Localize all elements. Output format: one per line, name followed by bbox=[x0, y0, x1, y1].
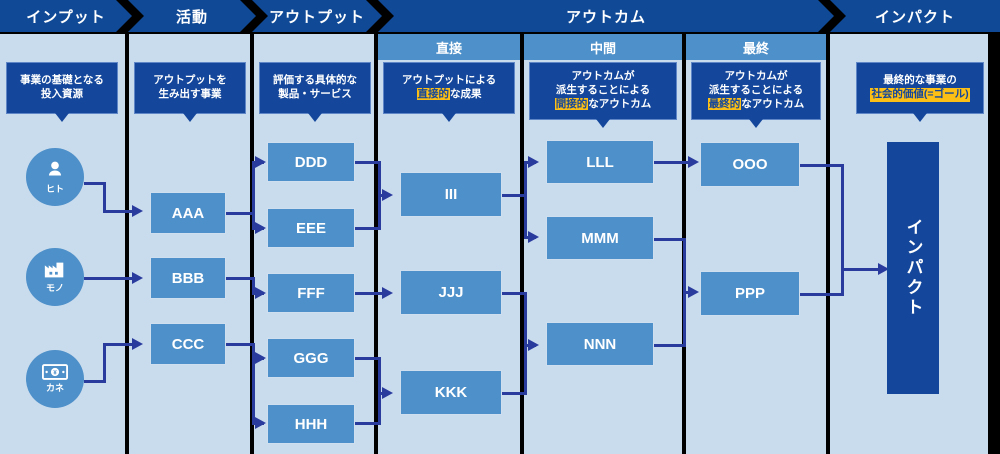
header-output-label: アウトプット bbox=[269, 6, 365, 27]
callout-tail-icon bbox=[442, 113, 456, 122]
callout-tail-icon bbox=[308, 113, 322, 122]
description-activity-line1: アウトプットを bbox=[153, 74, 227, 88]
connector-ggg-out bbox=[353, 357, 381, 360]
outcome-middle-node-mmm[interactable]: MMM bbox=[546, 216, 654, 260]
connector-hito-bus bbox=[103, 182, 106, 212]
impact-node-label: インパクト bbox=[901, 218, 926, 318]
description-final-line2: 派生することによる bbox=[709, 84, 803, 98]
input-node-kane-label: カネ bbox=[46, 381, 64, 394]
column-divider bbox=[988, 32, 992, 454]
description-direct-highlight: 直接的 bbox=[417, 88, 451, 100]
outcome-middle-node-mmm-label: MMM bbox=[581, 230, 619, 247]
connector-nnn-out bbox=[653, 344, 685, 347]
arrowhead-icon bbox=[382, 387, 393, 399]
arrowhead-icon bbox=[255, 287, 266, 299]
description-input: 事業の基礎となる 投入資源 bbox=[6, 62, 118, 114]
outcome-direct-node-jjj-label: JJJ bbox=[438, 284, 463, 301]
description-impact: 最終的な事業の 社会的価値(=ゴール) bbox=[856, 62, 984, 114]
arrowhead-icon bbox=[528, 231, 539, 243]
connector-ddd-out bbox=[353, 161, 381, 164]
output-node-ggg[interactable]: GGG bbox=[267, 338, 355, 378]
description-final-line3: 最終的なアウトカム bbox=[708, 98, 805, 112]
header-impact[interactable]: インパクト bbox=[830, 0, 1000, 32]
header-output[interactable]: アウトプット bbox=[252, 0, 382, 32]
outcome-direct-node-kkk[interactable]: KKK bbox=[400, 370, 502, 415]
outcome-final-node-ppp[interactable]: PPP bbox=[700, 271, 800, 316]
input-node-mono[interactable]: モノ bbox=[26, 248, 84, 306]
description-middle-line2: 派生することによる bbox=[556, 84, 650, 98]
header-outcome-label: アウトカム bbox=[566, 6, 646, 27]
header-impact-label: インパクト bbox=[875, 6, 955, 27]
subheader-direct-label: 直接 bbox=[436, 38, 462, 57]
connector-iii-out bbox=[500, 194, 526, 197]
output-node-hhh-label: HHH bbox=[295, 416, 328, 433]
connector-jjj-out bbox=[500, 292, 526, 295]
header-activity[interactable]: 活動 bbox=[128, 0, 256, 32]
description-direct: アウトプットによる 直接的な成果 bbox=[383, 62, 515, 114]
input-node-mono-label: モノ bbox=[46, 281, 64, 294]
banknote-icon: ¥ bbox=[42, 364, 68, 380]
column-divider bbox=[826, 32, 830, 454]
description-activity: アウトプットを 生み出す事業 bbox=[134, 62, 246, 114]
description-middle: アウトカムが 派生することによる 間接的なアウトカム bbox=[529, 62, 677, 120]
arrowhead-icon bbox=[132, 205, 143, 217]
outcome-direct-node-iii-label: III bbox=[445, 186, 458, 203]
description-activity-line2: 生み出す事業 bbox=[159, 88, 222, 102]
header-input[interactable]: インプット bbox=[0, 0, 132, 32]
connector-aaa-bus bbox=[252, 162, 255, 230]
outcome-direct-node-iii[interactable]: III bbox=[400, 172, 502, 217]
callout-tail-icon bbox=[749, 119, 763, 128]
activity-node-bbb-label: BBB bbox=[172, 270, 205, 287]
callout-tail-icon bbox=[183, 113, 197, 122]
impact-node[interactable]: インパクト bbox=[887, 142, 939, 394]
outcome-final-node-ooo[interactable]: OOO bbox=[700, 142, 800, 187]
connector-iii-bus bbox=[524, 161, 527, 238]
description-middle-line3: 間接的なアウトカム bbox=[555, 98, 652, 112]
output-node-ddd[interactable]: DDD bbox=[267, 142, 355, 182]
header-outcome[interactable]: アウトカム bbox=[378, 0, 834, 32]
arrowhead-icon bbox=[132, 272, 143, 284]
header-input-label: インプット bbox=[26, 6, 106, 27]
person-icon bbox=[44, 159, 66, 181]
output-node-fff-label: FFF bbox=[297, 285, 325, 302]
factory-icon bbox=[43, 260, 67, 280]
connector-hhh-out bbox=[353, 422, 381, 425]
arrowhead-icon bbox=[688, 156, 699, 168]
connector-gh-bus bbox=[378, 357, 381, 425]
column-divider bbox=[125, 32, 129, 454]
outcome-direct-node-kkk-label: KKK bbox=[435, 384, 468, 401]
outcome-final-node-ppp-label: PPP bbox=[735, 285, 765, 302]
description-input-line2: 投入資源 bbox=[41, 88, 83, 102]
connector-kane-bus bbox=[103, 344, 106, 383]
callout-tail-icon bbox=[596, 119, 610, 128]
connector-mmm-out bbox=[653, 238, 685, 241]
description-output: 評価する具体的な 製品・サービス bbox=[259, 62, 371, 114]
output-node-fff[interactable]: FFF bbox=[267, 273, 355, 313]
input-node-kane[interactable]: ¥ カネ bbox=[26, 350, 84, 408]
subheader-final-label: 最終 bbox=[743, 38, 769, 57]
description-direct-line1: アウトプットによる bbox=[402, 74, 496, 88]
arrowhead-icon bbox=[688, 286, 699, 298]
arrowhead-icon bbox=[255, 352, 266, 364]
activity-node-ccc-label: CCC bbox=[172, 336, 205, 353]
subheader-middle[interactable]: 中間 bbox=[524, 34, 682, 60]
arrowhead-icon bbox=[528, 156, 539, 168]
description-middle-line1: アウトカムが bbox=[572, 70, 635, 84]
output-node-eee-label: EEE bbox=[296, 220, 326, 237]
description-final-highlight: 最終的 bbox=[708, 98, 742, 110]
arrowhead-icon bbox=[528, 339, 539, 351]
outcome-middle-node-lll[interactable]: LLL bbox=[546, 140, 654, 184]
connector-op-bus bbox=[841, 164, 844, 296]
description-output-line1: 評価する具体的な bbox=[273, 74, 357, 88]
connector-mono-to-bbb bbox=[84, 277, 133, 280]
activity-node-ccc[interactable]: CCC bbox=[150, 323, 226, 365]
description-impact-line1: 最終的な事業の bbox=[883, 74, 957, 88]
activity-node-aaa[interactable]: AAA bbox=[150, 192, 226, 234]
outcome-middle-node-nnn-label: NNN bbox=[584, 336, 617, 353]
input-node-hito[interactable]: ヒト bbox=[26, 148, 84, 206]
output-node-eee[interactable]: EEE bbox=[267, 208, 355, 248]
output-node-hhh[interactable]: HHH bbox=[267, 404, 355, 444]
activity-node-bbb[interactable]: BBB bbox=[150, 257, 226, 299]
outcome-middle-node-nnn[interactable]: NNN bbox=[546, 322, 654, 366]
outcome-final-node-ooo-label: OOO bbox=[732, 156, 767, 173]
connector-kkk-out bbox=[500, 392, 526, 395]
description-output-line2: 製品・サービス bbox=[278, 88, 352, 102]
description-direct-line2: 直接的な成果 bbox=[417, 88, 482, 102]
outcome-middle-node-lll-label: LLL bbox=[586, 154, 614, 171]
description-middle-highlight: 間接的 bbox=[555, 98, 589, 110]
description-final-suffix: なアウトカム bbox=[741, 98, 804, 110]
activity-node-aaa-label: AAA bbox=[172, 205, 205, 222]
connector-ppp-out bbox=[798, 293, 844, 296]
outcome-direct-node-jjj[interactable]: JJJ bbox=[400, 270, 502, 315]
callout-tail-icon bbox=[55, 113, 69, 122]
description-middle-suffix: なアウトカム bbox=[588, 98, 651, 110]
subheader-middle-label: 中間 bbox=[590, 38, 616, 57]
arrowhead-icon bbox=[255, 156, 266, 168]
connector-aaa-out bbox=[225, 212, 255, 215]
callout-tail-icon bbox=[913, 113, 927, 122]
arrowhead-icon bbox=[382, 287, 393, 299]
input-node-hito-label: ヒト bbox=[46, 182, 64, 195]
description-direct-suffix: な成果 bbox=[450, 88, 482, 100]
output-node-ddd-label: DDD bbox=[295, 154, 328, 171]
description-final: アウトカムが 派生することによる 最終的なアウトカム bbox=[691, 62, 821, 120]
output-node-ggg-label: GGG bbox=[293, 350, 328, 367]
arrowhead-icon bbox=[382, 189, 393, 201]
connector-ooo-out bbox=[798, 164, 844, 167]
connector-lll-to-ooo bbox=[653, 161, 693, 164]
connector-eee-out bbox=[353, 227, 381, 230]
description-input-line1: 事業の基礎となる bbox=[20, 74, 104, 88]
header-activity-label: 活動 bbox=[176, 6, 208, 27]
arrowhead-icon bbox=[132, 338, 143, 350]
connector-ccc-out bbox=[225, 343, 255, 346]
connector-bbb-out bbox=[225, 277, 255, 280]
arrowhead-icon bbox=[255, 417, 266, 429]
logic-model-diagram: インプット 活動 アウトプット アウトカム インパクト 直接 中間 最終 事業の… bbox=[0, 0, 1000, 454]
connector-hito-to-aaa bbox=[103, 210, 133, 213]
subheader-final[interactable]: 最終 bbox=[686, 34, 826, 60]
subheader-direct[interactable]: 直接 bbox=[378, 34, 520, 60]
arrowhead-icon bbox=[255, 222, 266, 234]
description-impact-highlight: 社会的価値(=ゴール) bbox=[870, 88, 969, 102]
description-final-line1: アウトカムが bbox=[725, 70, 788, 84]
connector-kane-to-ccc bbox=[103, 343, 133, 346]
